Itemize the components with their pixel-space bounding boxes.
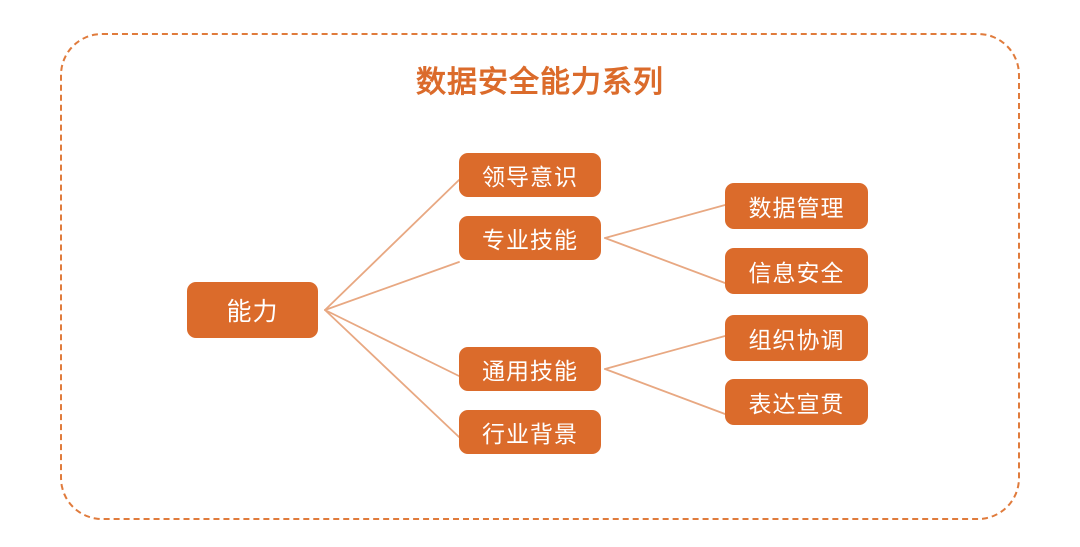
node-lingdao-yishi[interactable]: 领导意识 [459,153,601,197]
node-shuju-guanli[interactable]: 数据管理 [725,183,868,229]
diagram-canvas: 数据安全能力系列 能力 领导意识 专业技能 通用技能 行业背景 数据管理 信息安… [0,0,1080,547]
node-tongyong-jineng[interactable]: 通用技能 [459,347,601,391]
node-root-nengli[interactable]: 能力 [187,282,318,338]
node-zuzhi-xietiao[interactable]: 组织协调 [725,315,868,361]
node-biaoda-xuanguan[interactable]: 表达宣贯 [725,379,868,425]
node-xinxi-anquan[interactable]: 信息安全 [725,248,868,294]
page-title: 数据安全能力系列 [0,63,1080,103]
node-zhuanye-jineng[interactable]: 专业技能 [459,216,601,260]
node-hangye-beijing[interactable]: 行业背景 [459,410,601,454]
